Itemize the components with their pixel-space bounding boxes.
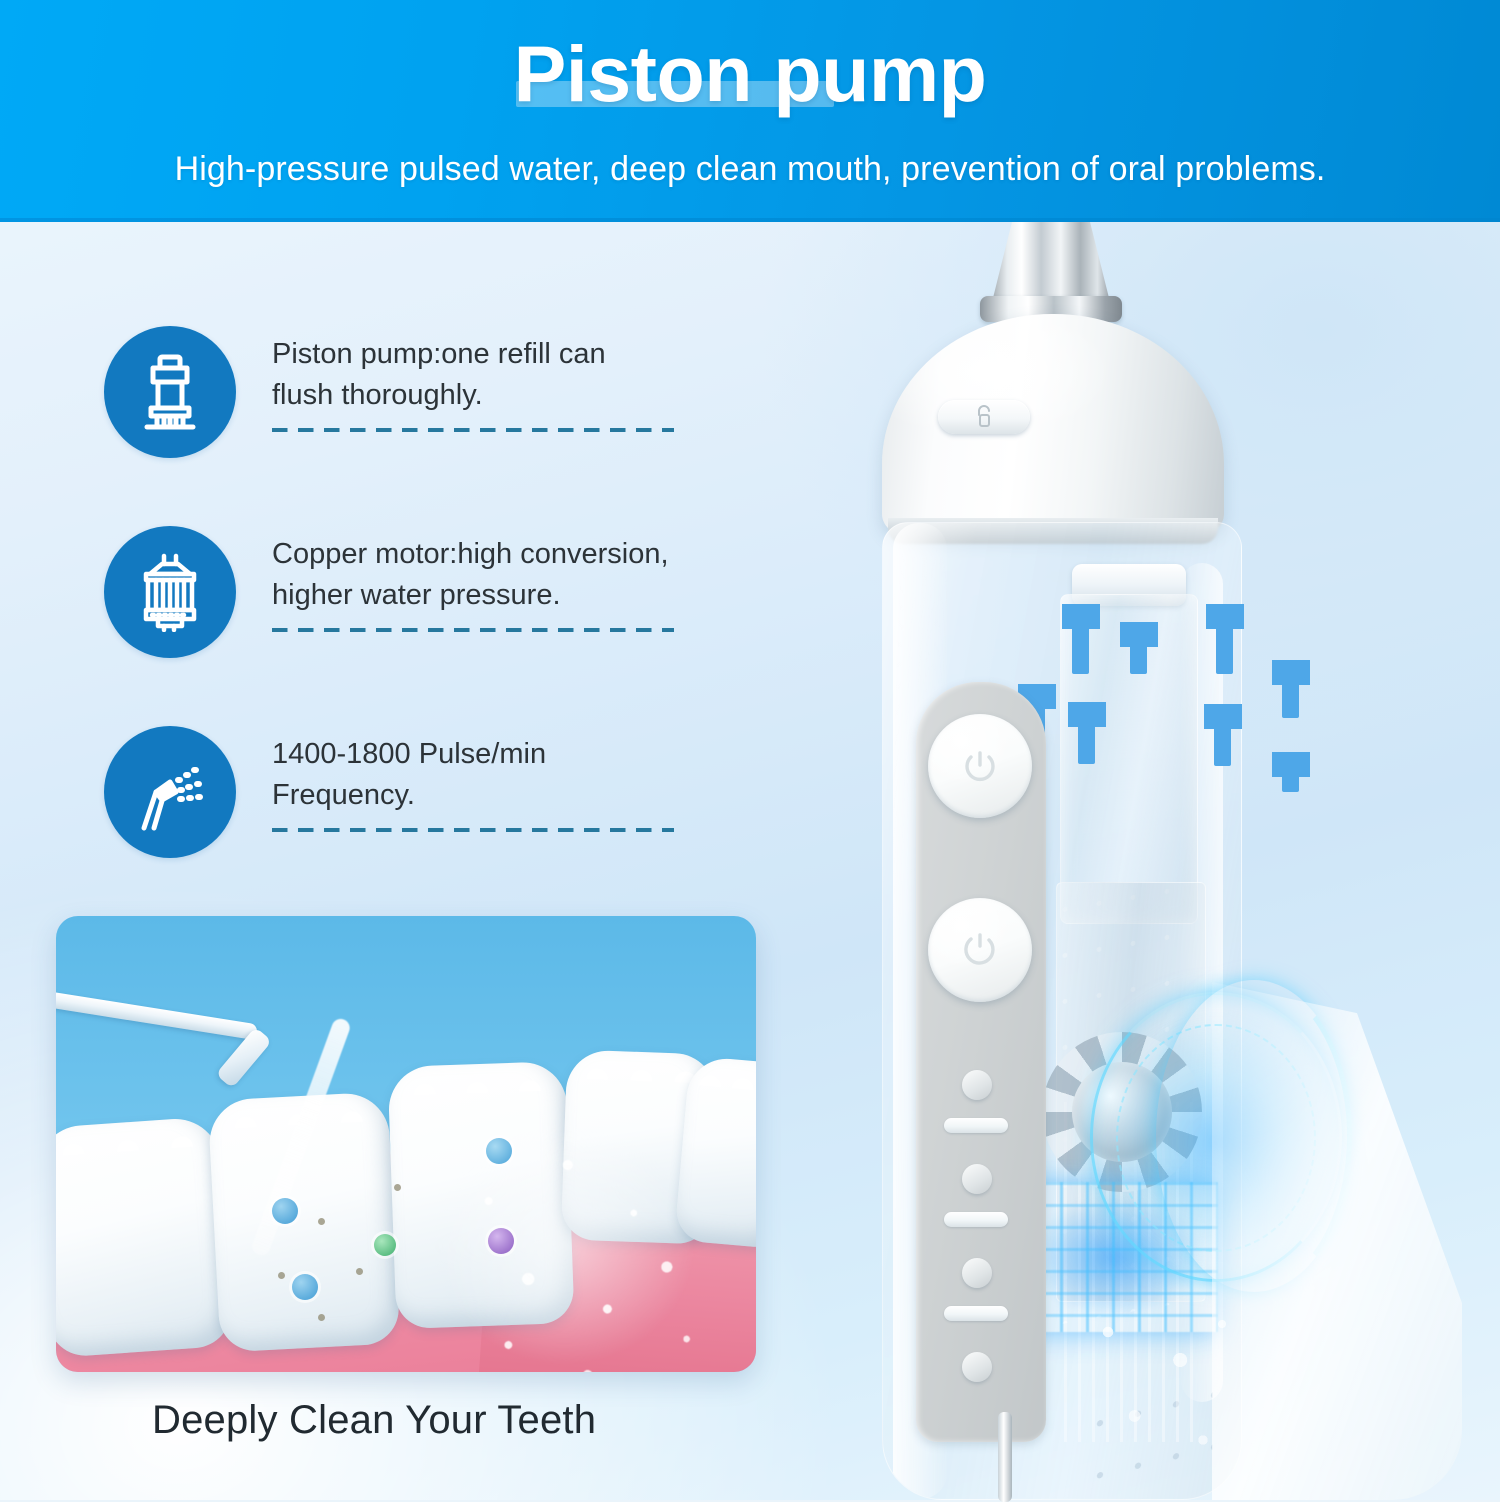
feature-line-1: Copper motor:high conversion, [272,534,692,575]
mode-indicator-dot [962,1352,992,1382]
piston-pump-icon [104,326,236,458]
feature-divider [272,428,674,432]
food-debris [394,1184,401,1191]
water-jet-nozzle-icon [104,726,236,858]
tooth [56,1116,234,1358]
mode-indicator-bar [944,1306,1008,1321]
feature-list: Piston pump:one refill can flush thoroug… [104,326,704,926]
feature-line-1: 1400-1800 Pulse/min [272,734,692,775]
teeth-demo-image [56,916,756,1372]
food-debris [318,1218,325,1225]
mode-indicator-dot [962,1070,992,1100]
page-title-wrap: Piston pump [0,34,1500,115]
food-debris [318,1314,325,1321]
feature-divider [272,628,674,632]
page-subtitle: High-pressure pulsed water, deep clean m… [0,150,1500,189]
bacteria-particle [488,1228,514,1254]
bacteria-particle [486,1138,512,1164]
food-debris [356,1268,363,1275]
teeth-card-caption: Deeply Clean Your Teeth [152,1398,596,1443]
power-icon[interactable] [928,714,1032,818]
food-debris [278,1272,285,1279]
feature-line-2: Frequency. [272,775,692,816]
white-dome-cap [882,314,1224,536]
motor-hub [1072,1062,1172,1162]
feature-text-block: Piston pump:one refill can flush thoroug… [272,334,692,432]
feature-line-2: higher water pressure. [272,575,692,616]
feature-item-pulse-frequency: 1400-1800 Pulse/min Frequency. [104,726,704,926]
feature-divider [272,828,674,832]
feature-text-block: 1400-1800 Pulse/min Frequency. [272,734,692,832]
mode-indicator-bar [944,1212,1008,1227]
mode-cycle-icon[interactable] [928,898,1032,1002]
feature-line-2: flush thoroughly. [272,375,692,416]
water-flosser-device [820,222,1500,1500]
feature-line-1: Piston pump:one refill can [272,334,692,375]
lock-release-icon[interactable] [938,400,1030,434]
body-highlight [1212,982,1462,1500]
copper-motor-icon [104,526,236,658]
mode-indicator-bar [944,1118,1008,1133]
mode-indicator-dot [962,1258,992,1288]
bacteria-particle [272,1198,298,1224]
intake-tube [998,1412,1012,1502]
flosser-nozzle [56,981,293,1081]
control-panel [916,682,1046,1442]
page-title: Piston pump [514,29,987,118]
bacteria-particle [292,1274,318,1300]
feature-item-copper-motor: Copper motor:high conversion, higher wat… [104,526,704,726]
feature-text-block: Copper motor:high conversion, higher wat… [272,534,692,632]
mode-indicator-dot [962,1164,992,1194]
bacteria-particle [374,1234,396,1256]
header-banner: Piston pump High-pressure pulsed water, … [0,0,1500,222]
feature-item-piston-pump: Piston pump:one refill can flush thoroug… [104,326,704,526]
